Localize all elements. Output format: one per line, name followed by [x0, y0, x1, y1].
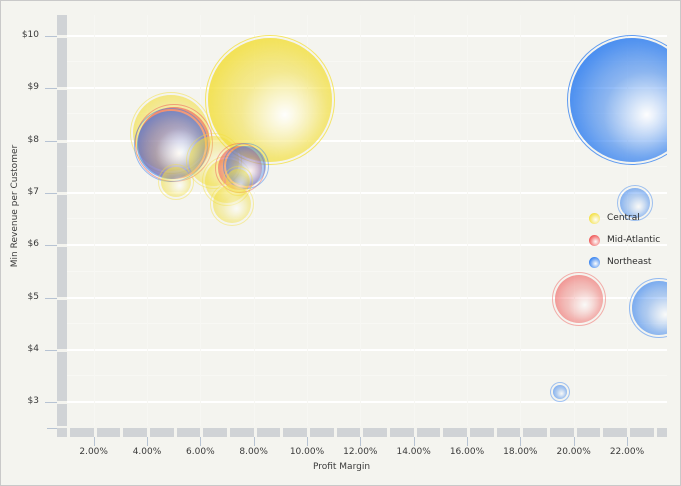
bubble-halo-ring — [629, 278, 667, 338]
bubble-halo-ring — [552, 272, 606, 326]
y-axis-label: $8 — [28, 135, 39, 145]
x-axis-label: 12.00% — [330, 447, 390, 457]
gridline-y — [67, 349, 667, 351]
bubble-halo-ring — [223, 166, 253, 196]
gridline-y — [67, 244, 667, 246]
bubble-point[interactable] — [226, 169, 250, 193]
x-band-segment-gap — [627, 428, 630, 437]
y-axis-tick — [45, 245, 57, 246]
x-band-segment-gap — [200, 428, 203, 437]
x-axis-tick — [414, 437, 415, 446]
x-band-segment-gap — [120, 428, 123, 437]
y-axis-tick — [45, 298, 57, 299]
legend-swatch-icon — [589, 235, 600, 246]
legend-swatch-icon — [589, 257, 600, 268]
y-band-segment-gap — [57, 401, 67, 404]
y-axis-label: $10 — [22, 30, 39, 40]
gridline-x — [147, 15, 148, 426]
y-band-segment-gap — [57, 297, 67, 300]
x-axis-label: 14.00% — [384, 447, 444, 457]
x-axis-label: 6.00% — [170, 447, 230, 457]
x-axis-label: 2.00% — [64, 447, 124, 457]
gridline-x — [520, 15, 521, 426]
gridline-x — [200, 15, 201, 426]
x-band-segment-gap — [254, 428, 257, 437]
x-axis-tick — [627, 437, 628, 446]
legend: CentralMid-AtlanticNortheast — [589, 207, 681, 273]
x-axis-label: 20.00% — [544, 447, 604, 457]
x-axis-tick — [467, 437, 468, 446]
y-axis-tick — [45, 36, 57, 37]
x-band-segment-gap — [387, 428, 390, 437]
y-axis-label: $5 — [28, 292, 39, 302]
x-axis-scrollbar[interactable] — [57, 428, 667, 437]
x-axis-tick — [200, 437, 201, 446]
x-band-segment-gap — [520, 428, 523, 437]
x-axis-label: 10.00% — [277, 447, 337, 457]
legend-swatch-icon — [589, 213, 600, 224]
x-band-segment-gap — [547, 428, 550, 437]
x-band-segment-gap — [440, 428, 443, 437]
x-axis-label: 22.00% — [597, 447, 657, 457]
legend-item-mid-atlantic[interactable]: Mid-Atlantic — [589, 229, 681, 251]
legend-label: Mid-Atlantic — [607, 235, 660, 245]
x-band-segment-gap — [654, 428, 657, 437]
y-band-segment-gap — [57, 87, 67, 90]
gridline-x — [467, 15, 468, 426]
gridline-x — [360, 15, 361, 426]
x-axis-tick — [147, 437, 148, 446]
x-band-segment-gap — [467, 428, 470, 437]
x-band-segment-gap — [307, 428, 310, 437]
bubble-chart: $10$9$8$7$6$5$4$3 Min Revenue per Custom… — [0, 0, 681, 486]
bubble-halo-ring — [158, 164, 194, 200]
bubble-point[interactable] — [555, 275, 603, 323]
x-axis-tick — [574, 437, 575, 446]
y-band-segment-gap — [57, 244, 67, 247]
y-axis-label: $4 — [28, 344, 39, 354]
gridline-y — [67, 192, 667, 194]
y-band-segment-gap — [57, 35, 67, 38]
x-band-segment-gap — [94, 428, 97, 437]
gridline-x — [414, 15, 415, 426]
x-axis-label: 8.00% — [224, 447, 284, 457]
y-axis-label: $3 — [28, 396, 39, 406]
bubble-point[interactable] — [632, 281, 667, 335]
x-band-segment-gap — [280, 428, 283, 437]
x-axis-label: 18.00% — [490, 447, 550, 457]
gridline-x — [94, 15, 95, 426]
bubble-point[interactable] — [161, 167, 191, 197]
x-axis-tick — [307, 437, 308, 446]
y-axis-label: $9 — [28, 82, 39, 92]
bubble-point[interactable] — [553, 385, 567, 399]
x-axis-tick — [94, 437, 95, 446]
legend-label: Northeast — [607, 257, 651, 267]
x-band-segment-gap — [147, 428, 150, 437]
x-band-segment-gap — [494, 428, 497, 437]
x-band-segment-gap — [334, 428, 337, 437]
gridline-y — [67, 35, 667, 37]
y-band-segment-gap — [57, 192, 67, 195]
y-axis-tick — [45, 350, 57, 351]
plot-area — [67, 15, 667, 426]
x-band-segment-gap — [574, 428, 577, 437]
gridline-y — [67, 401, 667, 403]
legend-item-central[interactable]: Central — [589, 207, 681, 229]
x-band-segment-gap — [600, 428, 603, 437]
x-axis-tick — [360, 437, 361, 446]
gridline-y-minor — [67, 61, 667, 62]
x-band-segment-gap — [174, 428, 177, 437]
y-band-segment-gap — [57, 349, 67, 352]
y-axis-tick — [45, 141, 57, 142]
y-axis-label: $6 — [28, 239, 39, 249]
legend-label: Central — [607, 213, 640, 223]
x-axis-label: 4.00% — [117, 447, 177, 457]
x-axis-tick — [254, 437, 255, 446]
y-axis-tick — [45, 402, 57, 403]
x-axis-label: 16.00% — [437, 447, 497, 457]
x-band-segment-gap — [414, 428, 417, 437]
y-axis-title: Min Revenue per Customer — [10, 116, 20, 296]
x-axis-title: Profit Margin — [1, 462, 681, 472]
x-band-segment-gap — [360, 428, 363, 437]
bubble-halo-ring — [567, 35, 667, 165]
y-band-segment-gap — [57, 140, 67, 143]
legend-item-northeast[interactable]: Northeast — [589, 251, 681, 273]
x-band-segment-gap — [67, 428, 70, 437]
y-axis-scrollbar[interactable] — [57, 15, 67, 426]
gridline-y-minor — [67, 218, 667, 219]
x-axis-tick — [520, 437, 521, 446]
bubble-point[interactable] — [570, 38, 667, 162]
y-axis-tick — [45, 193, 57, 194]
y-axis-label: $7 — [28, 187, 39, 197]
bubble-halo-ring — [550, 382, 570, 402]
gridline-y-minor — [67, 375, 667, 376]
y-axis-tick — [45, 88, 57, 89]
x-band-segment-gap — [227, 428, 230, 437]
